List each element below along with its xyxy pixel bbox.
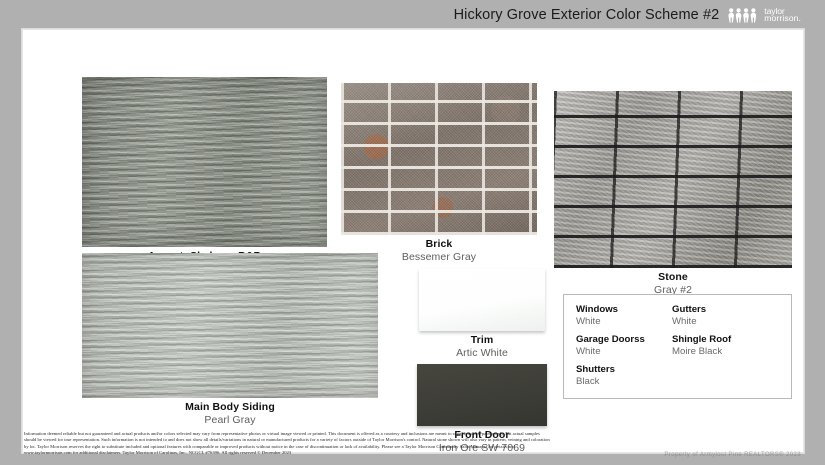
swatch-name-trim: Trim	[419, 334, 545, 347]
spec-value-shingle-roof: Moire Black	[672, 346, 791, 358]
swatch-accent-shake[interactable]: Accent- Shake or B&B Gray Slate	[82, 77, 327, 275]
people-figures-icon	[728, 8, 760, 23]
spec-item-garage-doors: Garage Doorss White	[576, 334, 672, 357]
spec-item-shingle-roof: Shingle Roof Moire Black	[672, 334, 791, 357]
swatch-color-trim: Artic White	[419, 347, 545, 360]
spec-item-shutters: Shutters Black	[576, 364, 672, 387]
spec-label-windows: Windows	[576, 304, 672, 316]
spec-label-shingle-roof: Shingle Roof	[672, 334, 791, 346]
spec-details-box: Windows White Gutters White Garage Doors…	[563, 294, 792, 399]
swatch-stone[interactable]: Stone Gray #2	[554, 91, 792, 296]
swatch-image-front-door	[417, 364, 547, 426]
document-sheet: Accent- Shake or B&B Gray Slate Brick Be…	[22, 29, 804, 453]
swatch-caption-trim: Trim Artic White	[419, 331, 545, 359]
spec-value-shutters: Black	[576, 376, 672, 388]
spec-label-garage-doors: Garage Doorss	[576, 334, 672, 346]
spec-label-gutters: Gutters	[672, 304, 791, 316]
swatch-trim[interactable]: Trim Artic White	[419, 269, 545, 359]
watermark-text: Property of Armylost Pine REALTORS® 2023	[664, 452, 801, 458]
spec-grid: Windows White Gutters White Garage Doors…	[576, 304, 791, 387]
logo-word-morrison: morrison.	[764, 15, 801, 23]
spec-label-shutters: Shutters	[576, 364, 672, 376]
swatch-caption-stone: Stone Gray #2	[554, 268, 792, 296]
spec-item-gutters: Gutters White	[672, 304, 791, 327]
spec-item-empty	[672, 364, 791, 387]
swatch-image-brick	[341, 83, 537, 235]
page-title: Hickory Grove Exterior Color Scheme #2	[454, 7, 720, 23]
logo-wordmark: taylor morrison.	[764, 8, 801, 23]
spec-value-windows: White	[576, 316, 672, 328]
header-bar: Hickory Grove Exterior Color Scheme #2	[0, 0, 825, 30]
color-board: Accent- Shake or B&B Gray Slate Brick Be…	[36, 36, 792, 424]
color-scheme-viewer: Hickory Grove Exterior Color Scheme #2	[0, 0, 825, 465]
swatch-image-accent-shake	[82, 77, 327, 247]
swatch-image-main-body-siding	[82, 253, 378, 398]
spec-value-gutters: White	[672, 316, 791, 328]
swatch-name-brick: Brick	[341, 238, 537, 251]
swatch-image-trim	[419, 269, 545, 331]
swatch-name-stone: Stone	[554, 271, 792, 284]
spec-item-windows: Windows White	[576, 304, 672, 327]
spec-value-garage-doors: White	[576, 346, 672, 358]
swatch-brick[interactable]: Brick Bessemer Gray	[341, 83, 537, 263]
swatch-main-body-siding[interactable]: Main Body Siding Pearl Gray	[82, 253, 378, 426]
swatch-image-stone	[554, 91, 792, 268]
swatch-color-main-body-siding: Pearl Gray	[82, 414, 378, 427]
swatch-caption-main-body-siding: Main Body Siding Pearl Gray	[82, 398, 378, 426]
taylor-morrison-logo: taylor morrison.	[728, 8, 801, 23]
swatch-name-main-body-siding: Main Body Siding	[82, 401, 378, 414]
